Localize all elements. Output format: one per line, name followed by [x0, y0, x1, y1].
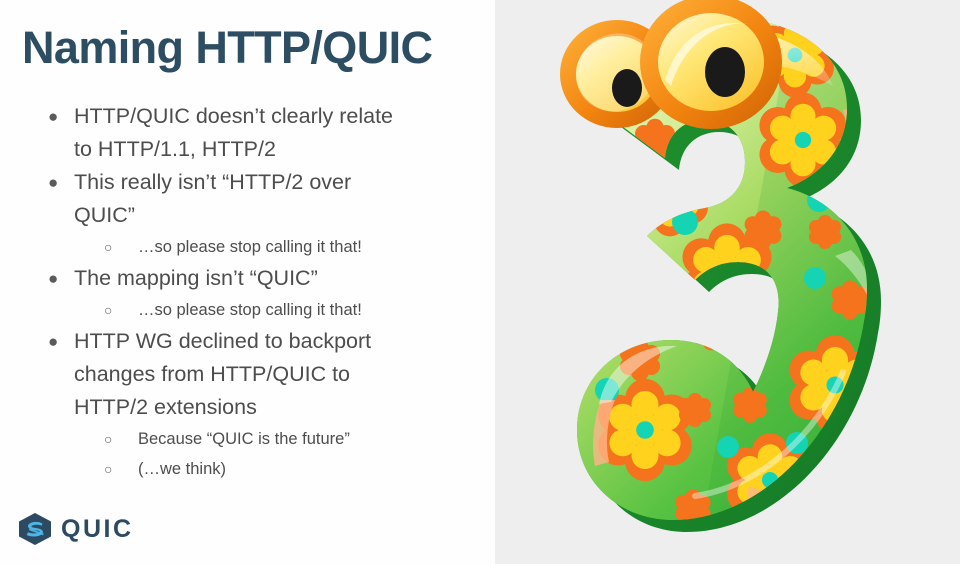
list-item-label: HTTP WG declined to backport changes fro… [74, 325, 414, 424]
quic-hexagon-logo-icon [17, 512, 53, 546]
right-pupil [705, 47, 745, 97]
sub-list-item-label: …so please stop calling it that! [138, 295, 362, 325]
bullet-marker-filled-icon: ● [44, 100, 74, 133]
sub-list-item-label: Because “QUIC is the future” [138, 424, 350, 454]
page-title: Naming HTTP/QUIC [22, 22, 492, 74]
list-item: ● HTTP/QUIC doesn’t clearly relate to HT… [0, 100, 495, 166]
bullet-marker-hollow-icon: ○ [104, 454, 138, 484]
sub-list-item: ○ …so please stop calling it that! [0, 232, 495, 262]
right-eye [640, 0, 782, 129]
content-panel: Naming HTTP/QUIC ● HTTP/QUIC doesn’t cle… [0, 0, 495, 564]
bullet-marker-hollow-icon: ○ [104, 424, 138, 454]
left-pupil [612, 69, 642, 107]
list-item: ● HTTP WG declined to backport changes f… [0, 325, 495, 424]
list-item-label: The mapping isn’t “QUIC” [74, 262, 318, 295]
list-item-label: This really isn’t “HTTP/2 over QUIC” [74, 166, 414, 232]
list-item-label: HTTP/QUIC doesn’t clearly relate to HTTP… [74, 100, 414, 166]
sub-list-item-label: (…we think) [138, 454, 226, 484]
decorative-numeral-three-illustration [495, 0, 960, 564]
bullet-marker-filled-icon: ● [44, 262, 74, 295]
bullet-marker-hollow-icon: ○ [104, 232, 138, 262]
bullet-marker-hollow-icon: ○ [104, 295, 138, 325]
sub-list-item-label: …so please stop calling it that! [138, 232, 362, 262]
bullet-marker-filled-icon: ● [44, 166, 74, 199]
bullet-list: ● HTTP/QUIC doesn’t clearly relate to HT… [0, 100, 495, 484]
quic-wordmark: QUIC [61, 517, 134, 542]
illustration-panel [495, 0, 960, 564]
sub-list-item: ○ …so please stop calling it that! [0, 295, 495, 325]
sub-list-item: ○ Because “QUIC is the future” [0, 424, 495, 454]
list-item: ● The mapping isn’t “QUIC” [0, 262, 495, 295]
presentation-slide: Naming HTTP/QUIC ● HTTP/QUIC doesn’t cle… [0, 0, 960, 564]
quic-logo: QUIC [17, 512, 134, 546]
list-item: ● This really isn’t “HTTP/2 over QUIC” [0, 166, 495, 232]
bullet-marker-filled-icon: ● [44, 325, 74, 358]
sub-list-item: ○ (…we think) [0, 454, 495, 484]
